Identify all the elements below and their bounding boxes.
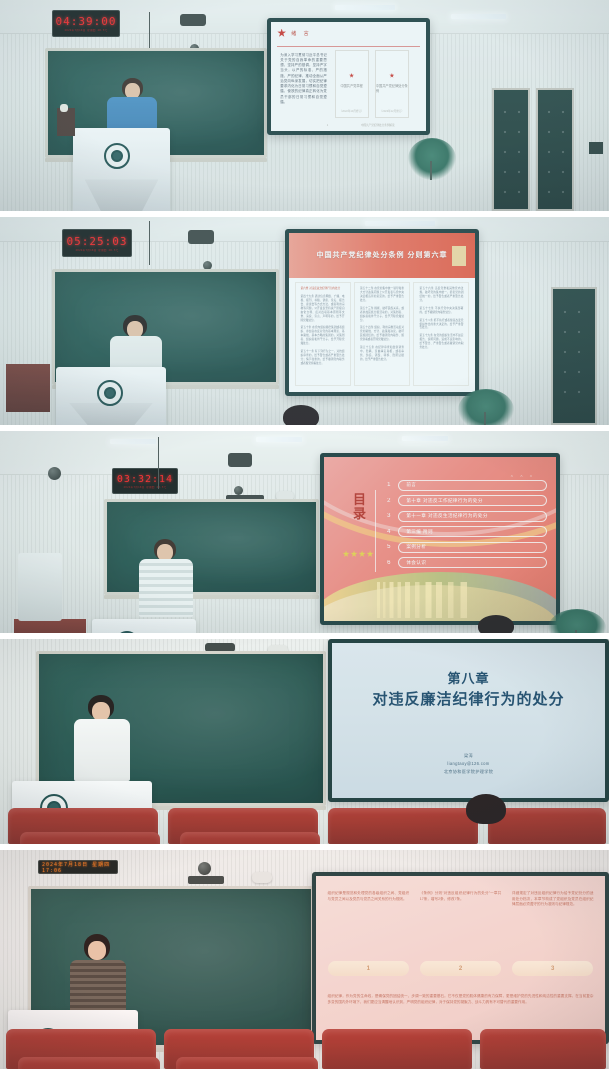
potted-plant-icon xyxy=(458,389,514,425)
card-footnote: （2022年10月修订） xyxy=(339,109,363,113)
door-right[interactable] xyxy=(551,287,597,425)
institution-emblem-icon xyxy=(97,380,123,406)
column-paragraph: 第五十九条 在党的组织生活中不如实报告、说明问题，造成不良影响的，给予警告、严重… xyxy=(419,334,463,350)
slide-paragraph: 为深入学习贯彻习近平总书记关于党的自我革命的重要思想，坚持严的基调，坚持严字当头… xyxy=(280,53,327,106)
party-emblem-icon xyxy=(349,73,354,78)
side-cabinet xyxy=(57,108,75,136)
column-paragraph: 第四十九条 通过信息网络、广播、电视、报刊、书籍、讲座、论坛、报告会、座谈会等方… xyxy=(301,295,345,322)
toc-label: 第三编 附则 xyxy=(398,526,546,537)
slide-divider xyxy=(277,46,420,47)
presentation-screen-3[interactable]: ⌃ ⌃ ⌃ 目 录 1 前言 2 第十章 对违反工作纪律行为的处分 xyxy=(320,453,560,625)
slide-content-3: ⌃ ⌃ ⌃ 目 录 1 前言 2 第十章 对违反工作纪律行为的处分 xyxy=(324,457,556,621)
led-clock-date: 2024年7月18日 星期四 28.5℃ xyxy=(64,28,107,32)
photo-panel-3[interactable]: 03:32:14 2024年7月18日 星期四 28.5℃ xyxy=(0,431,609,633)
classroom-scene-4: 第八章 对违反廉洁纪律行为的处分 梁涛 liangtaoy@126.com 北京… xyxy=(0,639,609,844)
slide-chapter: 第八章 xyxy=(447,668,489,687)
slide-columns: 第六章 对违反政治纪律行为的处分 第四十九条 通过信息网络、广播、电视、报刊、书… xyxy=(295,282,470,385)
video-bar-icon xyxy=(188,876,224,884)
slide-heading: 目 录 xyxy=(345,493,375,520)
heading-divider xyxy=(375,490,376,572)
side-cabinet xyxy=(14,619,86,633)
slide-column-text: 详细规定了对违反组织纪律行为给予党纪处分的适用处分档次，本章节构成了党组织及党员… xyxy=(512,891,594,908)
slide-banner: 中国共产党纪律处分条例 分则第六章 xyxy=(289,233,475,278)
podium-3 xyxy=(92,619,196,633)
photo-gallery: 04:39:00 2024年7月18日 星期四 28.5℃ xyxy=(0,0,609,1079)
institution-emblem-icon xyxy=(104,143,130,169)
presentation-screen-2[interactable]: 中国共产党纪律处分条例 分则第六章 第六章 对违反政治纪律行为的处分 第四十九条… xyxy=(285,229,479,396)
toc-item[interactable]: 2 第十章 对违反工作纪律行为的处分 xyxy=(384,495,546,506)
column-heading: 第六章 对违反政治纪律行为的处分 xyxy=(301,287,345,291)
led-clock-date: 2024年7月18日 星期四 28.5℃ xyxy=(75,248,118,252)
photo-panel-5[interactable]: 2024年7月18日 星期四 17:06 组织纪律是规范和处理党的各级组织之间、… xyxy=(0,850,609,1069)
slide-content-2: 中国共产党纪律处分条例 分则第六章 第六章 对违反政治纪律行为的处分 第四十九条… xyxy=(289,233,475,392)
slide-title: 对违反廉洁纪律行为的处分 xyxy=(372,688,564,709)
toc-number: 4 xyxy=(384,529,393,535)
slide-column-text: 组织纪律是规范和处理党的各级组织之间、党组织与党员之间以及党员与党员之间关系的行… xyxy=(328,891,410,908)
camera-dome-icon xyxy=(48,467,61,480)
toc-number: 1 xyxy=(384,482,393,488)
ceiling-light-icon xyxy=(451,14,506,19)
column-paragraph: 第五十八条 拒不执行或者擅自改变党组织作出的重大决定的，给予严重警告处分。 xyxy=(419,319,463,331)
presenter-affiliation: 北京协和医学院护理学院 xyxy=(444,768,493,776)
party-emblem-icon xyxy=(389,73,394,78)
led-clock-5: 2024年7月18日 星期四 17:06 xyxy=(38,860,118,874)
slide-content-4: 第八章 对违反廉洁纪律行为的处分 梁涛 liangtaoy@126.com 北京… xyxy=(332,643,605,798)
slide-columns: 组织纪律是规范和处理党的各级组织之间、党组织与党员之间以及党员与党员之间关系的行… xyxy=(328,891,594,908)
toc-number: 5 xyxy=(384,544,393,550)
photo-panel-4[interactable]: 第八章 对违反廉洁纪律行为的处分 梁涛 liangtaoy@126.com 北京… xyxy=(0,639,609,844)
slide-column: 第五十六条 违反党章和其他党内法规，破坏党的集中统一，损害党的团结统一的，给予警… xyxy=(413,282,469,385)
toc-number: 3 xyxy=(384,513,393,519)
toc-item[interactable]: 4 第三编 附则 xyxy=(384,526,546,537)
led-clock-1: 04:39:00 2024年7月18日 星期四 28.5℃ xyxy=(52,10,120,37)
stars-decoration xyxy=(343,550,380,557)
door-right[interactable] xyxy=(536,88,574,211)
column-paragraph: 第五十条 在党内组织秘密集团或者组织、参加旨在反对党的基本理论、基本路线、基本方… xyxy=(301,326,345,345)
ceiling-light-icon xyxy=(335,5,395,10)
slide-header: 绪 言 xyxy=(277,29,311,38)
toc-label: 案例分析 xyxy=(398,542,546,553)
led-clock-time: 03:32:14 xyxy=(117,474,173,485)
classroom-scene-1: 04:39:00 2024年7月18日 星期四 28.5℃ xyxy=(0,0,609,211)
slide-column: 第五十二条 在党的集中统一领导和重大方针政策问题上公开发表与党中央决定相违背的意… xyxy=(354,282,410,385)
audience-head xyxy=(478,615,514,633)
audience-head xyxy=(466,794,506,824)
led-clock-time: 2024年7月18日 星期四 17:06 xyxy=(42,861,114,874)
slide-card: 中国共产党章程 （2022年10月修订） xyxy=(335,50,369,118)
podium-1 xyxy=(73,128,170,211)
card-caption: 中国共产党章程 xyxy=(340,83,362,88)
ceiling-light-icon xyxy=(110,439,156,444)
toc-label: 前言 xyxy=(398,480,546,491)
column-paragraph: 第五十二条 在党的集中统一领导和重大方针政策问题上公开发表与党中央决定相违背的意… xyxy=(360,287,404,303)
badge-1[interactable]: 1 xyxy=(328,961,410,976)
led-clock-date: 2024年7月18日 星期四 28.5℃ xyxy=(123,485,166,489)
camera-mount-icon xyxy=(180,14,206,26)
door-left[interactable] xyxy=(492,88,530,211)
led-clock-3: 03:32:14 2024年7月18日 星期四 28.5℃ xyxy=(112,468,178,494)
column-paragraph: 第五十六条 违反党章和其他党内法规，破坏党的集中统一，损害党的团结统一的，给予警… xyxy=(419,287,463,303)
side-cabinet xyxy=(6,364,50,412)
photo-panel-2[interactable]: 05:25:03 2024年7月18日 星期四 28.5℃ xyxy=(0,217,609,425)
wall-fixture xyxy=(589,142,603,154)
audience-head xyxy=(283,405,319,425)
ceiling-light-icon xyxy=(365,221,435,226)
ceiling-light-icon xyxy=(256,437,302,442)
card-caption: 中国共产党纪律处分条例 xyxy=(376,83,408,93)
auditorium-seats xyxy=(0,1019,609,1069)
camera-mount-icon xyxy=(228,453,252,467)
toc-item[interactable]: 1 前言 xyxy=(384,480,546,491)
column-paragraph: 第五十一条 有下列行为之一，对抗组织审查的，给予警告或者严重警告处分；情节较重的… xyxy=(301,350,345,366)
slide-content-1: 绪 言 为深入学习贯彻习近平总书记关于党的自我革命的重要思想，坚持严的基调，坚持… xyxy=(271,22,426,131)
column-paragraph: 第五十三条 挑拨、破坏民族关系，或者参加民族分裂活动的，对策划者、组织者和骨干分… xyxy=(360,307,404,323)
ceiling-light-icon xyxy=(402,436,448,441)
classroom-scene-2: 05:25:03 2024年7月18日 星期四 28.5℃ xyxy=(0,217,609,425)
presenter-name: 梁涛 xyxy=(444,752,493,760)
slide-banner-title: 中国共产党纪律处分条例 分则第六章 xyxy=(317,250,448,260)
potted-plant-icon xyxy=(408,138,456,180)
slide-footer: 中国共产党纪律处分条例解读 xyxy=(361,123,395,127)
toc-label: 体会认识 xyxy=(398,557,546,568)
slide-bottom-text: 组织纪律，作为党的生命线，是确保党的团结统一、步调一致的重要基石。它不仅是党的肌… xyxy=(328,994,594,1006)
camera-dome-icon xyxy=(234,486,243,495)
toc-number: 6 xyxy=(384,560,393,566)
toc-item[interactable]: 5 案例分析 xyxy=(384,542,546,553)
slide-meta: 梁涛 liangtaoy@126.com 北京协和医学院护理学院 xyxy=(444,752,493,775)
presentation-screen-4[interactable]: 第八章 对违反廉洁纪律行为的处分 梁涛 liangtaoy@126.com 北京… xyxy=(328,639,609,802)
toc-item[interactable]: 3 第十一章 对违反生活纪律行为的处分 xyxy=(384,511,546,522)
led-clock-time: 04:39:00 xyxy=(56,15,117,28)
toc-list: 1 前言 2 第十章 对违反工作纪律行为的处分 3 第十一章 对违反生活纪律行为… xyxy=(384,480,546,573)
presentation-screen-1[interactable]: 绪 言 为深入学习贯彻习近平总书记关于党的自我革命的重要思想，坚持严的基调，坚持… xyxy=(267,18,430,135)
slide-column-text: 《条例》分则“对违反组织纪律行为的处分”一章共17条，增写2条，修改7条。 xyxy=(420,891,502,908)
auditorium-seats xyxy=(0,798,609,844)
toc-label: 第十一章 对违反生活纪律行为的处分 xyxy=(398,511,546,522)
microphone-rod-icon xyxy=(149,221,150,265)
photo-panel-1[interactable]: 04:39:00 2024年7月18日 星期四 28.5℃ xyxy=(0,0,609,211)
card-footnote: （2023年12月修订） xyxy=(380,109,404,113)
column-paragraph: 第五十七条 不执行党中央决策部署的，给予撤销党内职务处分。 xyxy=(419,307,463,315)
microphone-rod-icon xyxy=(158,437,159,489)
projector-icon xyxy=(252,872,272,883)
led-clock-time: 05:25:03 xyxy=(67,235,128,248)
slide-card: 中国共产党纪律处分条例 （2023年12月修订） xyxy=(375,50,409,118)
presenter-email: liangtaoy@126.com xyxy=(444,760,493,768)
led-clock-2: 05:25:03 2024年7月18日 星期四 28.5℃ xyxy=(62,229,132,257)
toc-item[interactable]: 6 体会认识 xyxy=(384,557,546,568)
badge-2[interactable]: 2 xyxy=(420,961,502,976)
slide-page-number: 1 xyxy=(327,124,328,127)
classroom-scene-5: 2024年7月18日 星期四 17:06 组织纪律是规范和处理党的各级组织之间、… xyxy=(0,850,609,1069)
column-paragraph: 第五十五条 在纪律审查和监察调查中，隐瞒、歪曲事实真相，或者串供、伪造、销毁、转… xyxy=(360,346,404,362)
column-paragraph: 第五十四条 组织、利用宗教活动反对党的路线、方针、政策和决议，破坏民族团结的，给… xyxy=(360,326,404,342)
badge-3[interactable]: 3 xyxy=(512,961,594,976)
water-dispenser xyxy=(18,553,62,621)
slide-badges: 1 2 3 xyxy=(328,961,594,976)
camera-mount-icon xyxy=(188,230,214,244)
toc-number: 2 xyxy=(384,498,393,504)
slide-tab-decoration xyxy=(452,246,466,266)
presenter-3 xyxy=(134,539,196,619)
toc-label: 第十章 对违反工作纪律行为的处分 xyxy=(398,495,546,506)
presenter-4 xyxy=(68,695,136,793)
slide-column: 第六章 对违反政治纪律行为的处分 第四十九条 通过信息网络、广播、电视、报刊、书… xyxy=(295,282,351,385)
camera-dome-icon xyxy=(198,862,211,875)
slide-header-title: 绪 言 xyxy=(291,30,311,37)
slide-content-5: 组织纪律是规范和处理党的各级组织之间、党组织与党员之间以及党员与党员之间关系的行… xyxy=(316,876,605,1040)
cup-icon xyxy=(60,104,68,112)
skyline-decoration xyxy=(375,582,472,618)
microphone-rod-icon xyxy=(149,12,150,52)
classroom-scene-3: 03:32:14 2024年7月18日 星期四 28.5℃ xyxy=(0,431,609,633)
party-emblem-icon xyxy=(277,29,286,38)
